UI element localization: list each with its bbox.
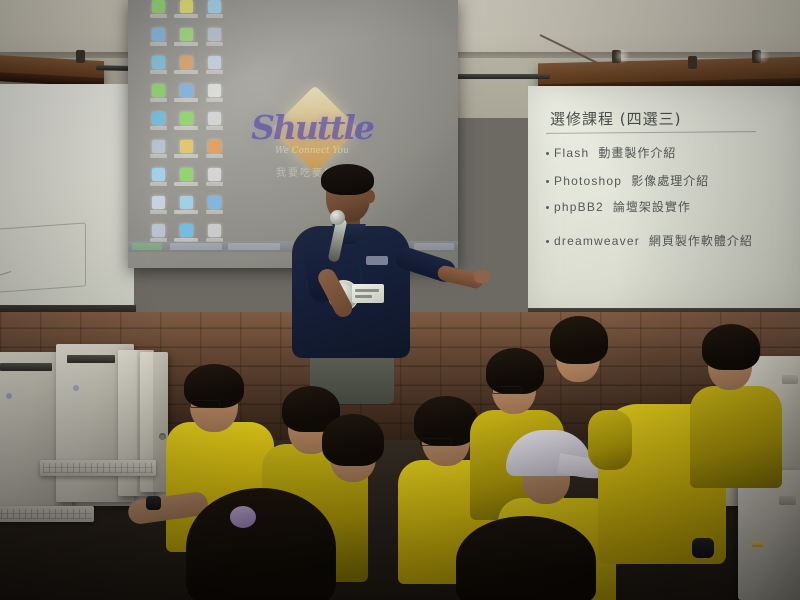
keyboard-keys (0, 509, 91, 519)
whiteboard-left-drawing (0, 222, 86, 293)
course-topic: 動畫製作介紹 (598, 146, 676, 160)
tower-sticker (6, 393, 12, 399)
bullet-icon (546, 206, 549, 209)
bullet-icon (546, 152, 549, 155)
student-shirt-sleeve (588, 410, 632, 470)
glasses-icon (420, 438, 452, 446)
keyboard[interactable] (0, 506, 94, 522)
course-software: Flash (554, 146, 589, 160)
student-hair-ponytail (186, 488, 336, 600)
speaker-ear (366, 190, 375, 203)
keyboard[interactable] (40, 460, 156, 476)
mount-highlight (614, 48, 630, 64)
student-foreground (176, 478, 356, 600)
student (690, 318, 786, 488)
tower-drive-bay (0, 363, 52, 371)
bullet-icon (546, 240, 549, 243)
student-hair (550, 316, 608, 364)
mount-highlight (754, 48, 770, 64)
course-topic: 影像處理介紹 (631, 174, 709, 188)
whiteboard-title-underline (546, 131, 756, 134)
valance-mount (688, 56, 697, 69)
badge-text-line (355, 295, 372, 298)
keyboard-keys (43, 463, 153, 473)
speaker-right-hand (474, 270, 490, 283)
speaker-presenter (288, 160, 448, 390)
course-topic: 論壇架設實作 (613, 200, 691, 214)
shirt-logo (366, 256, 388, 265)
whiteboard-title: 選修課程 (四選三) (550, 108, 681, 129)
student-shirt (690, 386, 782, 488)
hair-tie (230, 506, 256, 528)
monitor-power-led (752, 542, 763, 547)
student (544, 314, 616, 404)
student-hair (702, 324, 760, 370)
whiteboard-list-item: Photoshop影像處理介紹 (546, 172, 709, 189)
student-hair (456, 516, 596, 600)
bullet-icon (546, 180, 549, 183)
whiteboard-main: 選修課程 (四選三) Flash動畫製作介紹 Photoshop影像處理介紹 p… (528, 86, 800, 318)
valance-mount (76, 50, 85, 63)
glasses-icon (190, 400, 220, 408)
glasses-icon (492, 386, 522, 394)
wristwatch (146, 496, 161, 510)
student-foreground (456, 516, 606, 600)
whiteboard-left (0, 84, 134, 314)
whiteboard-list-item: dreamweaver網頁製作軟體介紹 (546, 232, 753, 249)
course-software: Photoshop (554, 174, 622, 188)
crt-monitor (738, 470, 800, 600)
whiteboard-list-item: phpBB2論壇架設實作 (546, 198, 691, 215)
monitor-vent (779, 496, 796, 505)
course-topic: 網頁製作軟體介紹 (649, 234, 753, 248)
wristwatch (692, 538, 714, 558)
microphone-head-icon (330, 210, 345, 225)
whiteboard-list-item: Flash動畫製作介紹 (546, 144, 676, 161)
course-software: dreamweaver (554, 234, 640, 248)
name-badge (352, 284, 384, 303)
speaker-hair (321, 164, 374, 195)
badge-text-line (355, 289, 379, 292)
course-software: phpBB2 (554, 200, 604, 214)
student-hair (322, 414, 384, 466)
classroom-photo: Shuttle We Connect You 我要吃麥當勞 選修課程 (四選三)… (0, 0, 800, 600)
tower-drive-bay (67, 355, 115, 363)
tower-sticker (73, 385, 79, 391)
